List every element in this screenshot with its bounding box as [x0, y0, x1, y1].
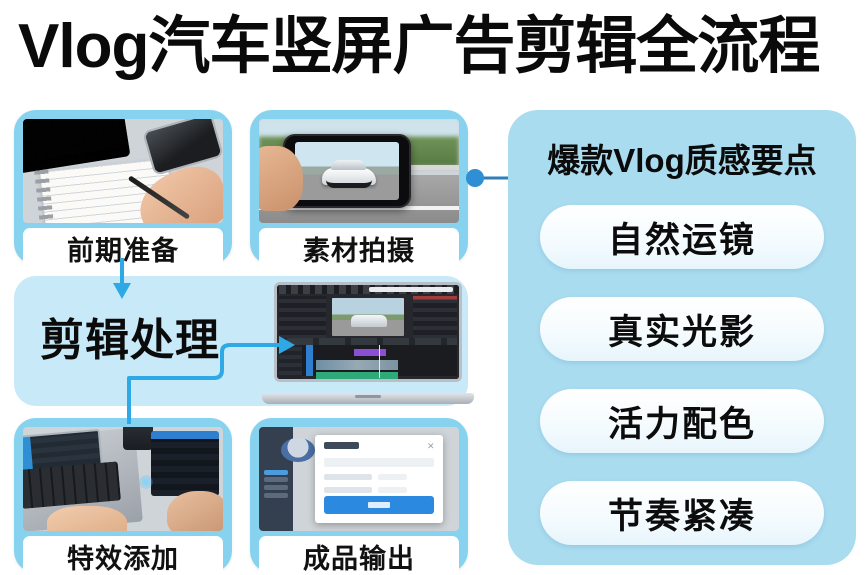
- mock-nav-item: [264, 470, 287, 475]
- mock-field-row: [324, 487, 434, 493]
- mock-dialog: ✕: [315, 435, 443, 522]
- mock-nav-item: [264, 477, 287, 482]
- preview-car-shape: [351, 315, 387, 328]
- mock-nav-item: [264, 493, 287, 498]
- highlight-pill-vivid-color[interactable]: 活力配色: [540, 389, 824, 453]
- timeline-clip-video: [316, 360, 398, 370]
- flow-card-label: 成品输出: [303, 537, 415, 575]
- editor-searchbar: [369, 287, 453, 292]
- mock-nav-item: [264, 485, 287, 490]
- phone-screen: [295, 142, 399, 200]
- preparation-photo: [23, 119, 223, 223]
- flow-card-label: 特效添加: [67, 537, 179, 575]
- flow-card-label: 素材拍摄: [303, 229, 415, 268]
- mock-value: [378, 487, 407, 493]
- timeline-clip-purple: [354, 349, 386, 356]
- flow-card-export[interactable]: ✕ 成品输出: [250, 418, 468, 573]
- page-title: Vlog汽车竖屏广告剪辑全流程: [18, 8, 858, 86]
- timeline-playhead: [379, 345, 380, 377]
- close-icon: ✕: [427, 442, 435, 450]
- flow-card-preparation[interactable]: 前期准备: [14, 110, 232, 265]
- laptop-screen: [274, 282, 462, 382]
- highlight-pill-label: 自然运镜: [608, 212, 756, 263]
- smartphone-shape: [142, 119, 223, 176]
- mock-label: [324, 474, 372, 480]
- mock-input-field: [324, 458, 434, 467]
- laptop-editing-illustration: [262, 282, 474, 404]
- typing-fingers-shape: [47, 506, 127, 531]
- mouse-hand-shape: [167, 491, 223, 531]
- car-shape: [322, 168, 376, 185]
- desk-cup-shape: [123, 427, 153, 450]
- video-editor-ui: [277, 285, 459, 379]
- mock-field-row: [324, 474, 434, 480]
- mock-submit-label: [368, 502, 390, 508]
- timeline-audio-meter: [306, 345, 313, 376]
- editor-right-panel: [413, 296, 457, 339]
- highlights-panel: 爆款Vlog质感要点 自然运镜 真实光影 活力配色 节奏紧凑: [508, 110, 856, 565]
- highlight-pill-label: 真实光影: [608, 304, 756, 355]
- flow-card-shooting[interactable]: 素材拍摄: [250, 110, 468, 265]
- highlight-pill-label: 节奏紧凑: [608, 488, 756, 539]
- editor-preview-monitor: [332, 298, 405, 336]
- laptop-base: [262, 393, 474, 404]
- editor-timeline: [279, 338, 457, 376]
- flow-card-effects[interactable]: 特效添加: [14, 418, 232, 573]
- blue-glow-dot: [139, 475, 153, 489]
- flow-card-label-band: 特效添加: [23, 536, 223, 575]
- timeline-clip-green: [316, 372, 398, 380]
- timeline-track-headers: [279, 345, 302, 382]
- avatar: [281, 438, 315, 462]
- mock-label: [324, 487, 372, 493]
- flow-card-label-band: 前期准备: [23, 228, 223, 268]
- process-flow-column: 剪辑处理: [0, 96, 500, 575]
- flow-card-label-band: 素材拍摄: [259, 228, 459, 268]
- highlight-pill-real-light[interactable]: 真实光影: [540, 297, 824, 361]
- highlight-pill-label: 活力配色: [608, 396, 756, 447]
- highlights-title: 爆款Vlog质感要点: [508, 134, 856, 182]
- editing-stage-label: 剪辑处理: [40, 304, 220, 368]
- mock-dialog-title: [324, 442, 359, 449]
- flow-card-label: 前期准备: [67, 229, 179, 268]
- mock-submit-button: [324, 496, 434, 514]
- highlight-pill-natural-camera[interactable]: 自然运镜: [540, 205, 824, 269]
- highlight-pill-tight-rhythm[interactable]: 节奏紧凑: [540, 481, 824, 545]
- export-photo: ✕: [259, 427, 459, 531]
- editor-left-panel: [279, 296, 326, 339]
- flow-card-label-band: 成品输出: [259, 536, 459, 575]
- laptop-keys-shape: [23, 461, 121, 509]
- mock-value: [378, 474, 407, 480]
- effects-photo: [23, 427, 223, 531]
- shooting-photo: [259, 119, 459, 223]
- side-monitor-shape: [151, 431, 219, 495]
- timeline-ruler: [279, 338, 457, 345]
